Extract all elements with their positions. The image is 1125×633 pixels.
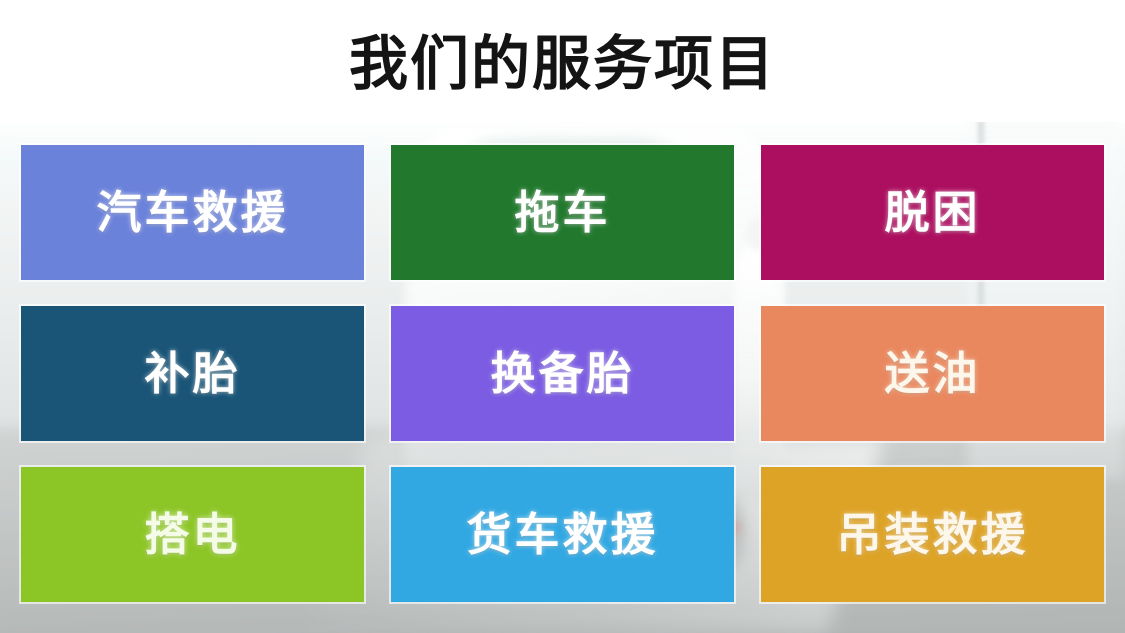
service-tile-label: 脱困: [884, 190, 980, 235]
service-grid: 汽车救援 拖车 脱困 补胎 换备胎 送油 搭电 货车救援 吊装救援: [21, 145, 1104, 603]
service-tile-truck-rescue[interactable]: 货车救援: [391, 467, 734, 602]
service-tile-extrication[interactable]: 脱困: [761, 145, 1104, 280]
service-tile-label: 货车救援: [466, 512, 658, 557]
service-tile-spare-tire-change[interactable]: 换备胎: [391, 306, 734, 441]
service-poster: 我们的服务项目 汽车救援 拖车 脱困 补胎 换备胎 送油 搭电 货车救援 吊装救…: [0, 0, 1125, 633]
service-tile-label: 汽车救援: [96, 190, 288, 235]
service-tile-jump-start[interactable]: 搭电: [21, 467, 364, 602]
page-title: 我们的服务项目: [349, 34, 776, 93]
service-tile-label: 吊装救援: [836, 512, 1028, 557]
service-tile-towing[interactable]: 拖车: [391, 145, 734, 280]
service-tile-label: 拖车: [514, 190, 610, 235]
header-band: 我们的服务项目: [0, 0, 1125, 122]
service-tile-fuel-delivery[interactable]: 送油: [761, 306, 1104, 441]
service-tile-label: 送油: [884, 351, 980, 396]
service-tile-crane-rescue[interactable]: 吊装救援: [761, 467, 1104, 602]
service-tile-car-rescue[interactable]: 汽车救援: [21, 145, 364, 280]
service-tile-tire-repair[interactable]: 补胎: [21, 306, 364, 441]
service-tile-label: 补胎: [144, 351, 240, 396]
service-tile-label: 换备胎: [490, 351, 634, 396]
service-tile-label: 搭电: [144, 512, 240, 557]
